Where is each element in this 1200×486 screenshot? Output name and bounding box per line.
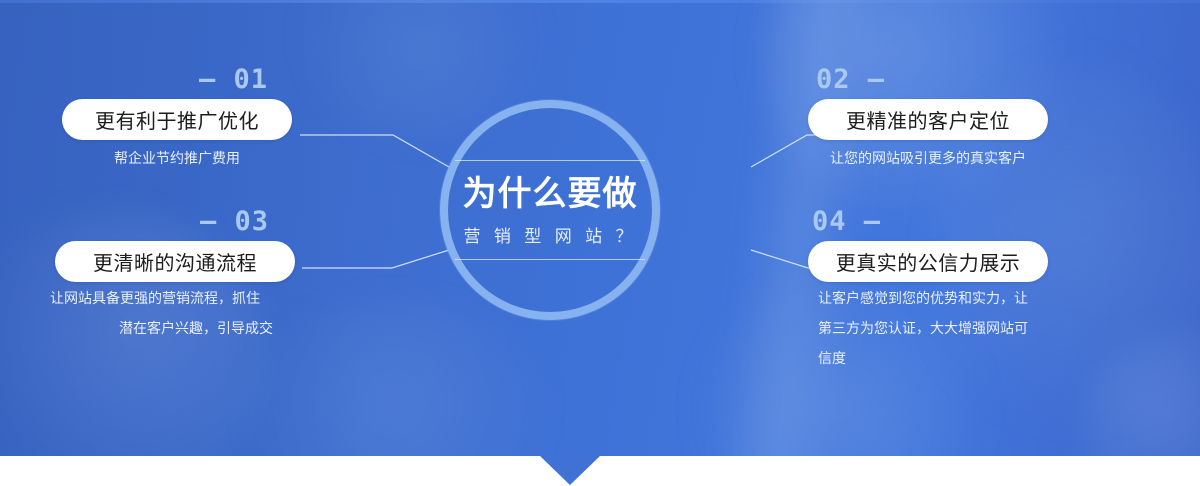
- feature-description-line: 让客户感觉到您的优势和实力，让: [818, 284, 1074, 314]
- feature-item-03: — 03 更清晰的沟通流程 让网站具备更强的营销流程，抓住 潜在客户兴趣，引导成…: [55, 208, 295, 344]
- center-headline-group: 为什么要做 营 销 型 网 站 ？: [440, 100, 660, 320]
- feature-item-04: 04 — 更真实的公信力展示 让客户感觉到您的优势和实力，让 第三方为您认证，大…: [808, 208, 1074, 374]
- blue-banner: 为什么要做 营 销 型 网 站 ？ — 01 更有利于推广优化 帮企业节约推广费…: [0, 0, 1200, 456]
- feature-title-pill-01[interactable]: 更有利于推广优化: [62, 99, 292, 140]
- feature-description-01: 帮企业节约推广费用: [62, 144, 292, 174]
- feature-description-line: 第三方为您认证，大大增强网站可: [818, 314, 1074, 344]
- feature-description-line: 帮企业节约推广费用: [62, 144, 292, 174]
- feature-description-line: 潜在客户兴趣，引导成交: [23, 314, 287, 344]
- feature-number-03: — 03: [55, 208, 295, 235]
- feature-description-04: 让客户感觉到您的优势和实力，让 第三方为您认证，大大增强网站可 信度: [808, 284, 1074, 374]
- feature-description-line: 信度: [818, 344, 1074, 374]
- center-subtitle: 营 销 型 网 站 ？: [463, 222, 636, 247]
- feature-number-04: 04 —: [808, 208, 1048, 235]
- center-divider-bottom: [455, 259, 645, 260]
- center-divider-top: [455, 160, 645, 161]
- center-title: 为什么要做: [463, 175, 638, 214]
- banner-stage: 为什么要做 营 销 型 网 站 ？ — 01 更有利于推广优化 帮企业节约推广费…: [0, 0, 1200, 486]
- feature-description-02: 让您的网站吸引更多的真实客户: [808, 144, 1048, 174]
- connector-line-01: [300, 135, 449, 167]
- connector-line-03: [302, 250, 449, 268]
- feature-title-pill-04[interactable]: 更真实的公信力展示: [808, 241, 1048, 282]
- feature-title-pill-03[interactable]: 更清晰的沟通流程: [55, 241, 295, 282]
- feature-description-03: 让网站具备更强的营销流程，抓住 潜在客户兴趣，引导成交: [23, 284, 287, 344]
- feature-description-line: 让网站具备更强的营销流程，抓住: [23, 284, 287, 314]
- feature-title-pill-02[interactable]: 更精准的客户定位: [808, 99, 1048, 140]
- bottom-arrow-notch: [540, 456, 600, 485]
- feature-item-02: 02 — 更精准的客户定位 让您的网站吸引更多的真实客户: [808, 66, 1048, 174]
- feature-item-01: — 01 更有利于推广优化 帮企业节约推广费用: [62, 66, 292, 174]
- feature-description-line: 让您的网站吸引更多的真实客户: [808, 144, 1048, 174]
- feature-number-01: — 01: [62, 66, 292, 93]
- feature-number-02: 02 —: [808, 66, 1048, 93]
